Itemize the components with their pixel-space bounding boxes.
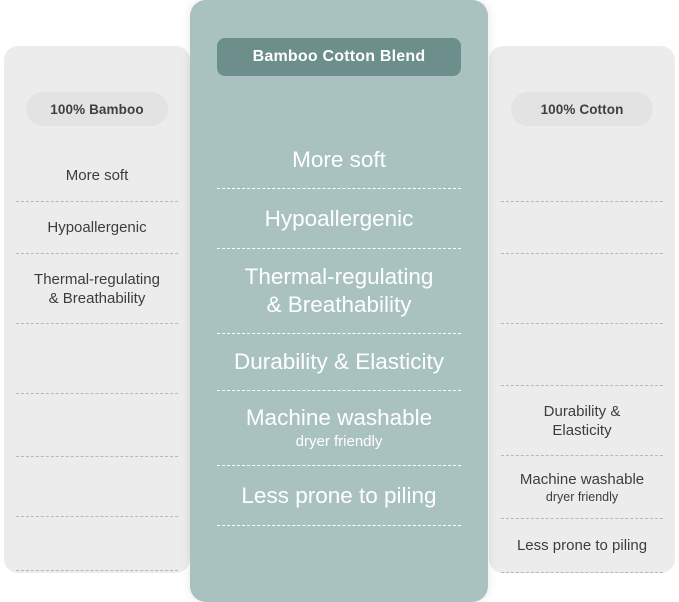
cotton-row: Machine washabledryer friendly bbox=[501, 456, 663, 519]
bamboo-row bbox=[16, 457, 178, 517]
column-cotton-rows: Durability & ElasticityMachine washabled… bbox=[501, 150, 663, 573]
cotton-row bbox=[501, 254, 663, 324]
column-cotton-title: 100% Cotton bbox=[541, 102, 624, 117]
cotton-row: Less prone to piling bbox=[501, 519, 663, 573]
bamboo-row bbox=[16, 517, 178, 571]
bamboo-row bbox=[16, 394, 178, 457]
bamboo-row-label: Hypoallergenic bbox=[47, 218, 146, 237]
blend-row-label: Machine washable bbox=[246, 404, 432, 432]
cotton-row-label: Durability & Elasticity bbox=[544, 402, 621, 440]
blend-row-label: Thermal-regulating & Breathability bbox=[245, 263, 434, 319]
cotton-row-label: Machine washable bbox=[520, 470, 644, 489]
bamboo-row-label: More soft bbox=[66, 166, 129, 185]
column-bamboo-header: 100% Bamboo bbox=[26, 92, 168, 126]
blend-row-label: Less prone to piling bbox=[241, 482, 436, 510]
bamboo-row: More soft bbox=[16, 150, 178, 202]
blend-row: Durability & Elasticity bbox=[217, 334, 461, 391]
column-bamboo-rows: More softHypoallergenicThermal-regulatin… bbox=[16, 150, 178, 571]
bamboo-row-label: Thermal-regulating & Breathability bbox=[34, 270, 160, 308]
column-cotton: 100% Cotton Durability & ElasticityMachi… bbox=[489, 46, 675, 573]
comparison-table: 100% Bamboo More softHypoallergenicTherm… bbox=[0, 0, 679, 602]
column-cotton-header: 100% Cotton bbox=[511, 92, 653, 126]
cotton-row bbox=[501, 150, 663, 202]
column-blend: Bamboo Cotton Blend More softHypoallerge… bbox=[190, 0, 488, 602]
column-blend-header: Bamboo Cotton Blend bbox=[217, 38, 461, 76]
cotton-row-sublabel: dryer friendly bbox=[546, 489, 618, 505]
blend-row: More soft bbox=[217, 132, 461, 189]
blend-row-label: More soft bbox=[292, 146, 386, 174]
bamboo-row: Hypoallergenic bbox=[16, 202, 178, 254]
blend-row: Thermal-regulating & Breathability bbox=[217, 249, 461, 334]
blend-row-label: Hypoallergenic bbox=[265, 205, 414, 233]
cotton-row bbox=[501, 324, 663, 386]
cotton-row bbox=[501, 202, 663, 254]
blend-row: Hypoallergenic bbox=[217, 189, 461, 249]
blend-row-label: Durability & Elasticity bbox=[234, 348, 444, 376]
blend-row: Less prone to piling bbox=[217, 466, 461, 526]
column-bamboo: 100% Bamboo More softHypoallergenicTherm… bbox=[4, 46, 190, 573]
column-blend-rows: More softHypoallergenicThermal-regulatin… bbox=[217, 132, 461, 526]
cotton-row-label: Less prone to piling bbox=[517, 536, 647, 555]
bamboo-row: Thermal-regulating & Breathability bbox=[16, 254, 178, 324]
column-blend-title: Bamboo Cotton Blend bbox=[253, 48, 426, 66]
cotton-row: Durability & Elasticity bbox=[501, 386, 663, 456]
blend-row: Machine washabledryer friendly bbox=[217, 391, 461, 466]
column-bamboo-title: 100% Bamboo bbox=[50, 102, 143, 117]
bamboo-row bbox=[16, 324, 178, 394]
blend-row-sublabel: dryer friendly bbox=[296, 432, 383, 452]
